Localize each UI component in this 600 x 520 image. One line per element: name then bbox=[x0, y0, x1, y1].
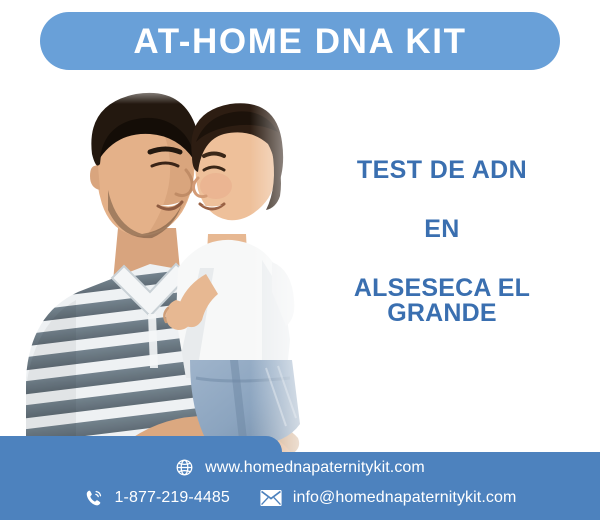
headline-line-3: ALSESECA EL GRANDE bbox=[300, 276, 584, 326]
footer-contact-row: 1-877-219-4485 info@homednapaternitykit.… bbox=[0, 488, 600, 508]
family-photo bbox=[0, 78, 330, 460]
footer-email-label: info@homednapaternitykit.com bbox=[293, 489, 517, 507]
poster-canvas: AT-HOME DNA KIT bbox=[0, 0, 600, 520]
headline-line-2: EN bbox=[300, 217, 584, 242]
footer-website-row[interactable]: www.homednapaternitykit.com bbox=[0, 458, 600, 477]
header-title: AT-HOME DNA KIT bbox=[133, 24, 466, 59]
family-photo-illustration bbox=[0, 78, 330, 460]
footer-phone-label: 1-877-219-4485 bbox=[115, 489, 230, 507]
headline-line-1: TEST DE ADN bbox=[300, 158, 584, 183]
headline-block: TEST DE ADN EN ALSESECA EL GRANDE bbox=[300, 158, 584, 326]
header-banner: AT-HOME DNA KIT bbox=[40, 12, 560, 70]
globe-icon bbox=[175, 458, 194, 477]
footer-website-label: www.homednapaternitykit.com bbox=[205, 459, 425, 477]
phone-icon bbox=[84, 488, 104, 508]
envelope-icon bbox=[260, 489, 282, 507]
